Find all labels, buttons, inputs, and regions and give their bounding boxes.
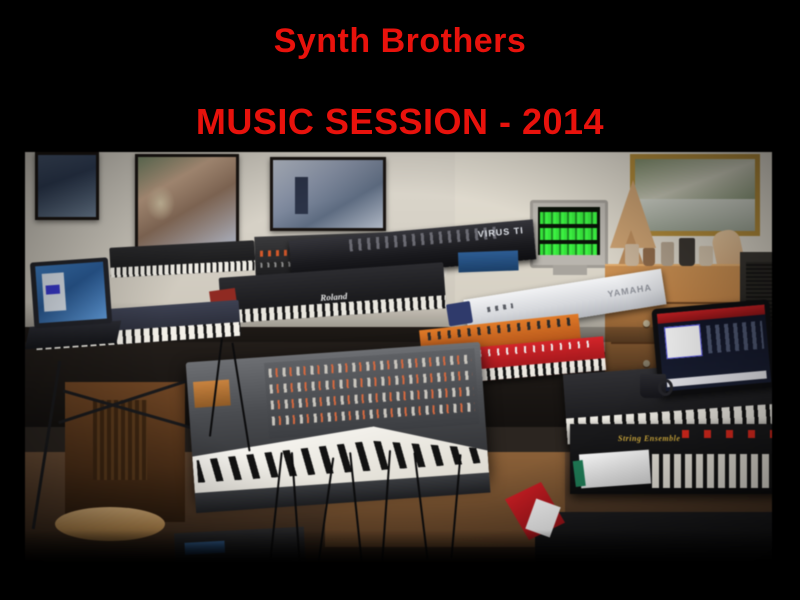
slide-root: Synth Brothers MUSIC SESSION - 2014 xyxy=(0,0,800,600)
photo-vignette xyxy=(25,152,772,572)
title-block: Synth Brothers MUSIC SESSION - 2014 xyxy=(0,0,800,152)
page-subtitle: MUSIC SESSION - 2014 xyxy=(0,104,800,140)
page-title: Synth Brothers xyxy=(0,24,800,58)
studio-photo: VIRUS TI Roland YAMAHA xyxy=(25,152,772,572)
